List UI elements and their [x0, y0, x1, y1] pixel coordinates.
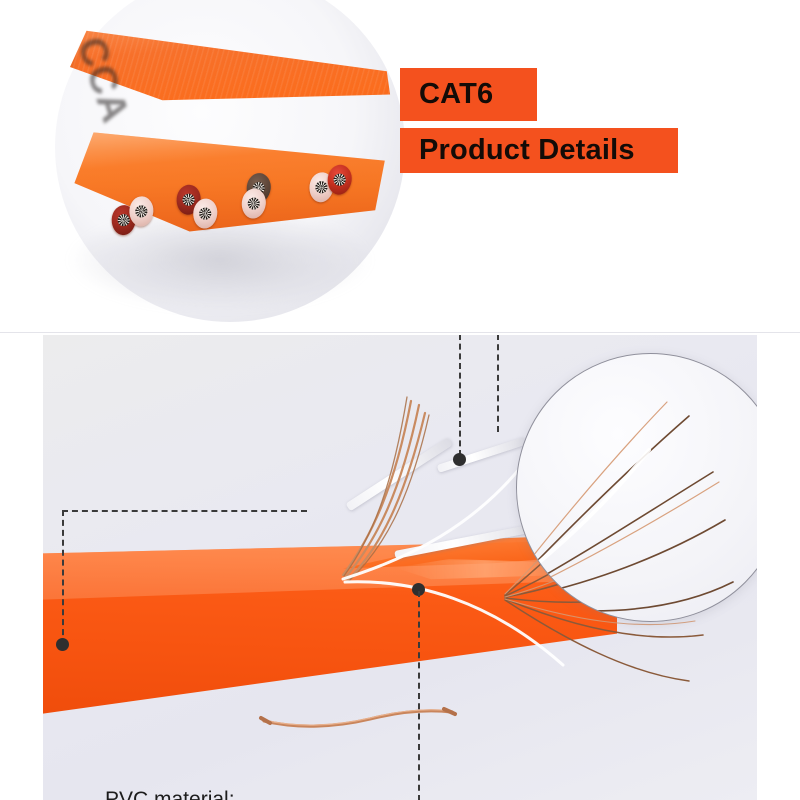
pvc-annotation-text: PVC material; Waterproof/Sunscreen/ Anti…: [105, 785, 419, 800]
bottom-left-margin: [0, 335, 43, 800]
cat6-label-text: CAT6: [400, 78, 493, 111]
bottom-right-margin: [757, 335, 800, 800]
wire-2b: [192, 197, 219, 229]
cat6-label-box: CAT6: [400, 68, 537, 121]
twisted-pair-4: [307, 161, 360, 207]
product-details-label-box: Product Details: [400, 128, 678, 173]
single-copper-strand-sample: [258, 703, 458, 733]
pvc-callout-horizontal: [62, 510, 307, 512]
twisted-pair-3: [240, 171, 293, 217]
magnifier-callout-vertical: [497, 335, 499, 432]
white-insulated-pair-a: [346, 437, 453, 511]
twisted-pair-2: [174, 184, 226, 229]
pvc-callout-dot: [56, 638, 69, 651]
bottom-panel: PVC material; Waterproof/Sunscreen/ Anti…: [43, 335, 757, 800]
cat6-flat-cable-photo: CCA: [70, 22, 400, 272]
pe-callout-vertical-upper: [459, 335, 461, 456]
wire-1b: [128, 196, 154, 228]
product-detail-image: CCA CAT6: [0, 0, 800, 800]
pe-callout-dot-upper: [453, 453, 466, 466]
pvc-callout-vertical: [62, 510, 64, 645]
pe-callout-vertical-lower: [418, 591, 420, 800]
magnifier-contents: [517, 354, 757, 621]
top-panel: CCA CAT6: [0, 0, 800, 333]
product-details-label-text: Product Details: [400, 134, 635, 167]
twisted-pair-1: [111, 194, 162, 237]
